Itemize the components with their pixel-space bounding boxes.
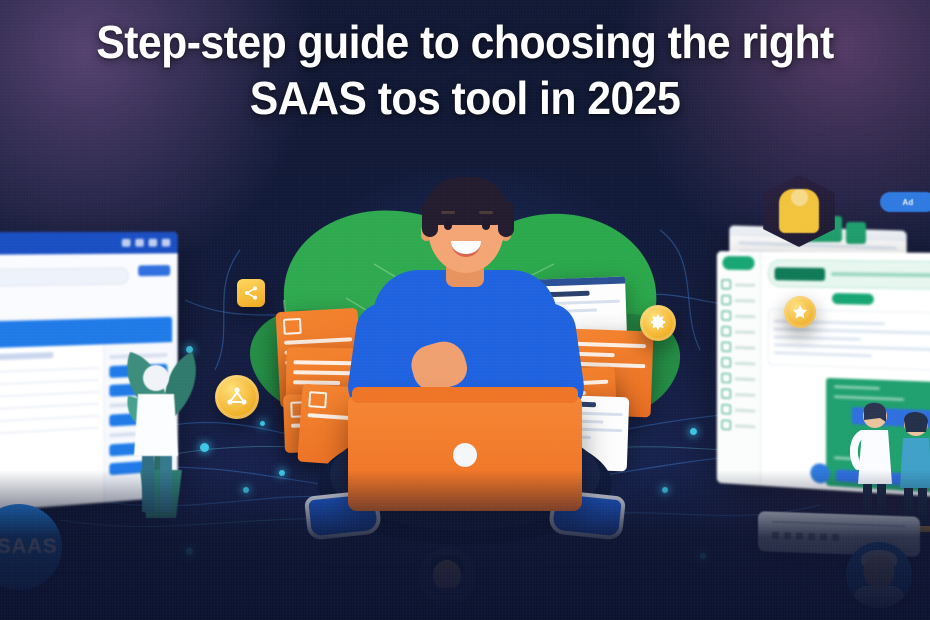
sidebar-item[interactable] — [717, 276, 760, 292]
bell-icon[interactable] — [122, 239, 131, 247]
eye-left — [444, 219, 452, 230]
table-row — [0, 415, 98, 422]
table-title — [0, 352, 54, 361]
hero-line — [831, 272, 930, 277]
sidebar-item-label — [735, 330, 756, 334]
sidebar-item[interactable] — [717, 417, 760, 435]
mail-icon — [722, 342, 731, 352]
eyebrow-left — [441, 211, 455, 214]
sidebar-item-label — [735, 361, 756, 365]
document-icon — [722, 373, 731, 383]
network-icon — [225, 385, 249, 409]
card-line — [774, 351, 873, 357]
sidebar-item[interactable] — [717, 339, 760, 356]
laptop-logo — [453, 443, 477, 467]
hair-side-left — [422, 201, 438, 237]
primary-button[interactable] — [138, 265, 170, 276]
cta-pill-button[interactable] — [832, 293, 874, 305]
left-dashboard-header — [0, 232, 178, 255]
sidebar-item-label — [735, 314, 756, 317]
help-icon — [722, 420, 731, 430]
floor-vignette — [0, 470, 930, 620]
star-badge[interactable] — [784, 296, 816, 328]
board-line — [834, 385, 880, 390]
sidebar[interactable] — [717, 251, 761, 486]
figure-head — [791, 189, 808, 206]
user-icon[interactable] — [162, 239, 170, 247]
sidebar-item[interactable] — [717, 385, 760, 402]
chart-icon — [722, 311, 731, 321]
sidebar-item-label — [735, 408, 756, 412]
network-badge[interactable] — [215, 375, 259, 419]
tag-icon — [722, 389, 731, 399]
hero-banner-card — [768, 259, 930, 289]
sidebar-item-label — [735, 283, 756, 286]
hero-badge — [775, 267, 825, 281]
table-row — [0, 391, 98, 397]
app-logo — [722, 256, 754, 270]
gear-icon — [722, 404, 731, 414]
cart-icon[interactable] — [135, 239, 144, 247]
share-badge[interactable] — [237, 279, 265, 307]
eyebrow-right — [479, 211, 493, 214]
sidebar-item[interactable] — [717, 308, 760, 325]
home-icon — [722, 279, 731, 289]
eye-right — [482, 219, 490, 230]
left-dashboard-toolbar — [0, 253, 178, 318]
top-right-badge[interactable]: Ad — [880, 192, 930, 212]
panel-line — [739, 241, 897, 249]
hair-side-right — [498, 201, 514, 237]
calendar-icon — [722, 326, 731, 336]
share-icon — [243, 285, 259, 301]
table-row — [0, 379, 98, 385]
gear-badge[interactable] — [640, 305, 676, 341]
table-row — [0, 427, 98, 434]
card-line — [774, 343, 930, 351]
sidebar-item-label — [735, 346, 756, 350]
folder-icon — [722, 357, 731, 367]
headline: Step-step guide to choosing the right SA… — [0, 18, 930, 123]
settings-icon[interactable] — [149, 239, 158, 247]
star-icon — [791, 303, 809, 321]
hero-banner: Ad — [0, 0, 930, 620]
sidebar-item-label — [735, 299, 756, 302]
sidebar-item[interactable] — [717, 292, 760, 309]
card-line — [774, 328, 930, 335]
users-icon — [722, 295, 731, 305]
card-icon — [283, 318, 302, 335]
headline-line-1: Step-step guide to choosing the right — [38, 18, 892, 67]
sidebar-item-label — [735, 424, 756, 428]
table-row — [0, 403, 98, 410]
card-line — [774, 335, 861, 340]
sidebar-item-label — [735, 377, 756, 381]
network-node — [200, 443, 209, 452]
gear-icon — [648, 313, 668, 333]
green-chip — [846, 222, 866, 244]
top-right-badge-label: Ad — [902, 198, 913, 207]
sidebar-item[interactable] — [717, 354, 760, 371]
headline-line-2: SAAS tos tool in 2025 — [38, 74, 892, 123]
laptop-lid — [352, 387, 578, 403]
sidebar-item[interactable] — [717, 370, 760, 387]
search-input[interactable] — [0, 267, 129, 286]
table-row — [0, 367, 98, 372]
sidebar-item-label — [735, 393, 756, 397]
sidebar-item[interactable] — [717, 323, 760, 340]
